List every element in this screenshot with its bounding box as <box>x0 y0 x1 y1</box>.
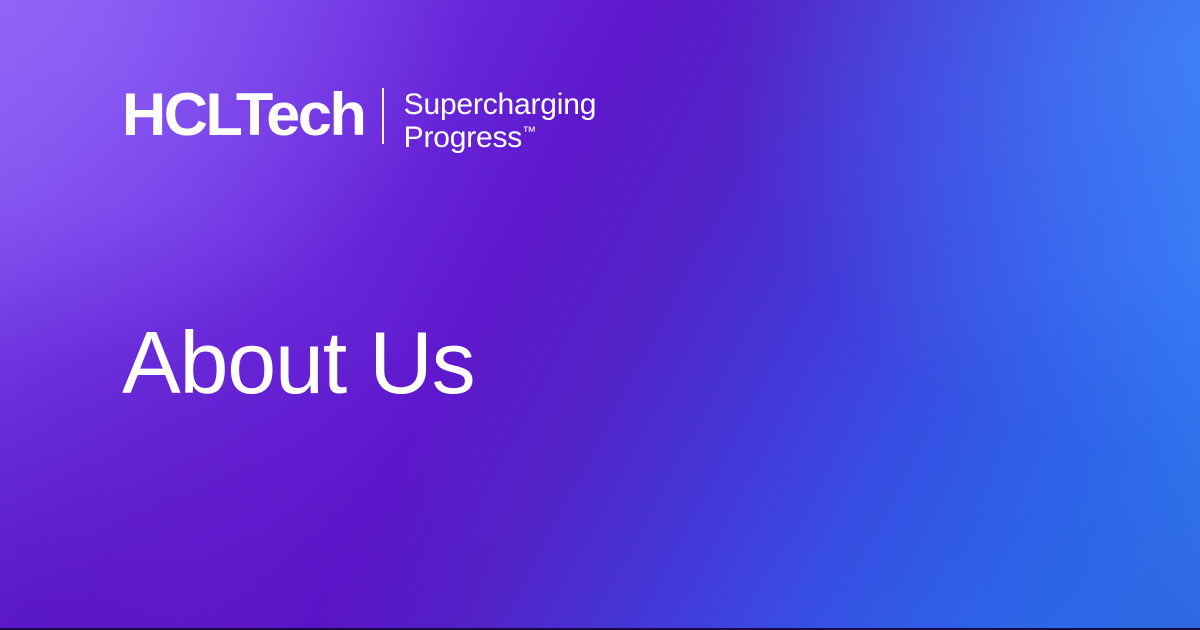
trademark-icon: ™ <box>522 123 536 139</box>
hero-banner: HCLTech Supercharging Progress™ About Us <box>0 0 1200 630</box>
brand-tagline: Supercharging Progress™ <box>404 88 597 154</box>
tagline-line-2-text: Progress <box>404 121 522 154</box>
hcltech-logo[interactable]: HCLTech Supercharging Progress™ <box>122 80 596 154</box>
page-title: About Us <box>122 313 474 413</box>
tagline-line-2: Progress™ <box>404 121 597 154</box>
tagline-line-1: Supercharging <box>404 88 597 121</box>
brand-wordmark: HCLTech <box>122 80 364 150</box>
banner-content: HCLTech Supercharging Progress™ About Us <box>0 0 1200 628</box>
logo-divider-icon <box>382 88 384 144</box>
